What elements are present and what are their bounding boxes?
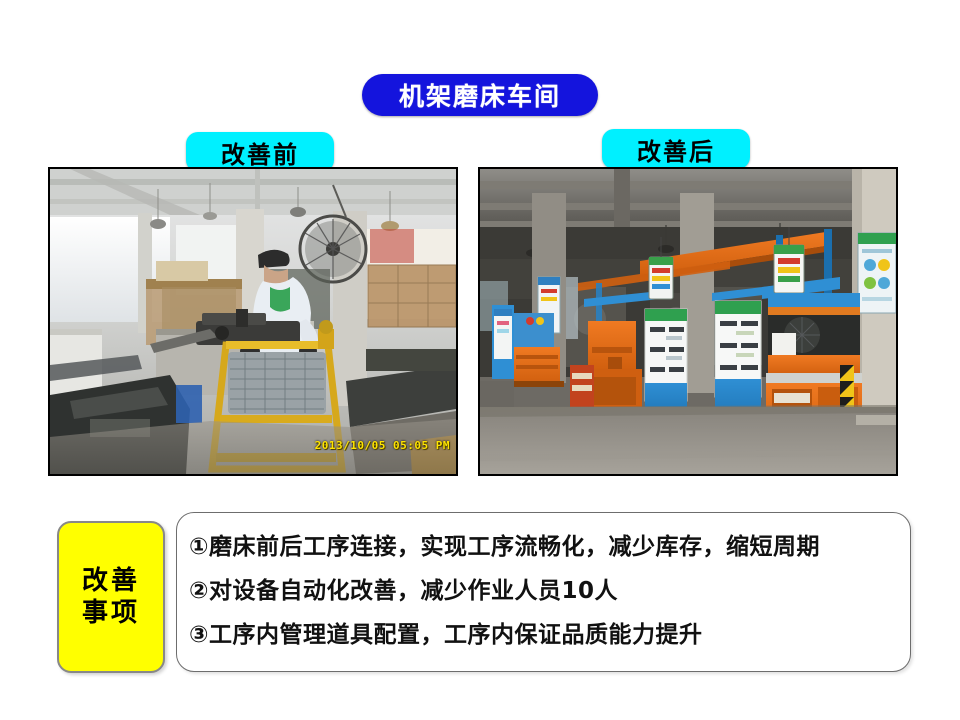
improvement-heading-line2: 事项 [82,597,140,630]
photo-before-improvement: 2013/10/05 05:05 PM [48,167,458,476]
improvement-heading-line1: 改善 [82,565,140,598]
slide-title-pill: 机架磨床车间 [362,74,598,116]
photo-after-illustration [480,169,896,474]
photo-timestamp: 2013/10/05 05:05 PM [315,439,450,452]
improvement-item-2: ②对设备自动化改善，减少作业人员10人 [189,569,896,613]
improvement-items-panel: ①磨床前后工序连接，实现工序流畅化，减少库存，缩短周期 ②对设备自动化改善，减少… [176,512,911,672]
label-after-improvement: 改善后 [602,129,750,169]
improvement-heading-box: 改善 事项 [57,521,165,673]
improvement-item-1: ①磨床前后工序连接，实现工序流畅化，减少库存，缩短周期 [189,525,896,569]
label-after-text: 改善后 [637,132,715,167]
label-before-improvement: 改善前 [186,132,334,172]
label-before-text: 改善前 [221,135,299,170]
page-title: 机架磨床车间 [399,77,561,113]
improvement-item-3: ③工序内管理道具配置，工序内保证品质能力提升 [189,613,896,657]
photo-before-illustration [50,169,456,474]
photo-after-improvement [478,167,898,476]
slide-canvas: 机架磨床车间 改善前 改善后 [0,0,960,720]
